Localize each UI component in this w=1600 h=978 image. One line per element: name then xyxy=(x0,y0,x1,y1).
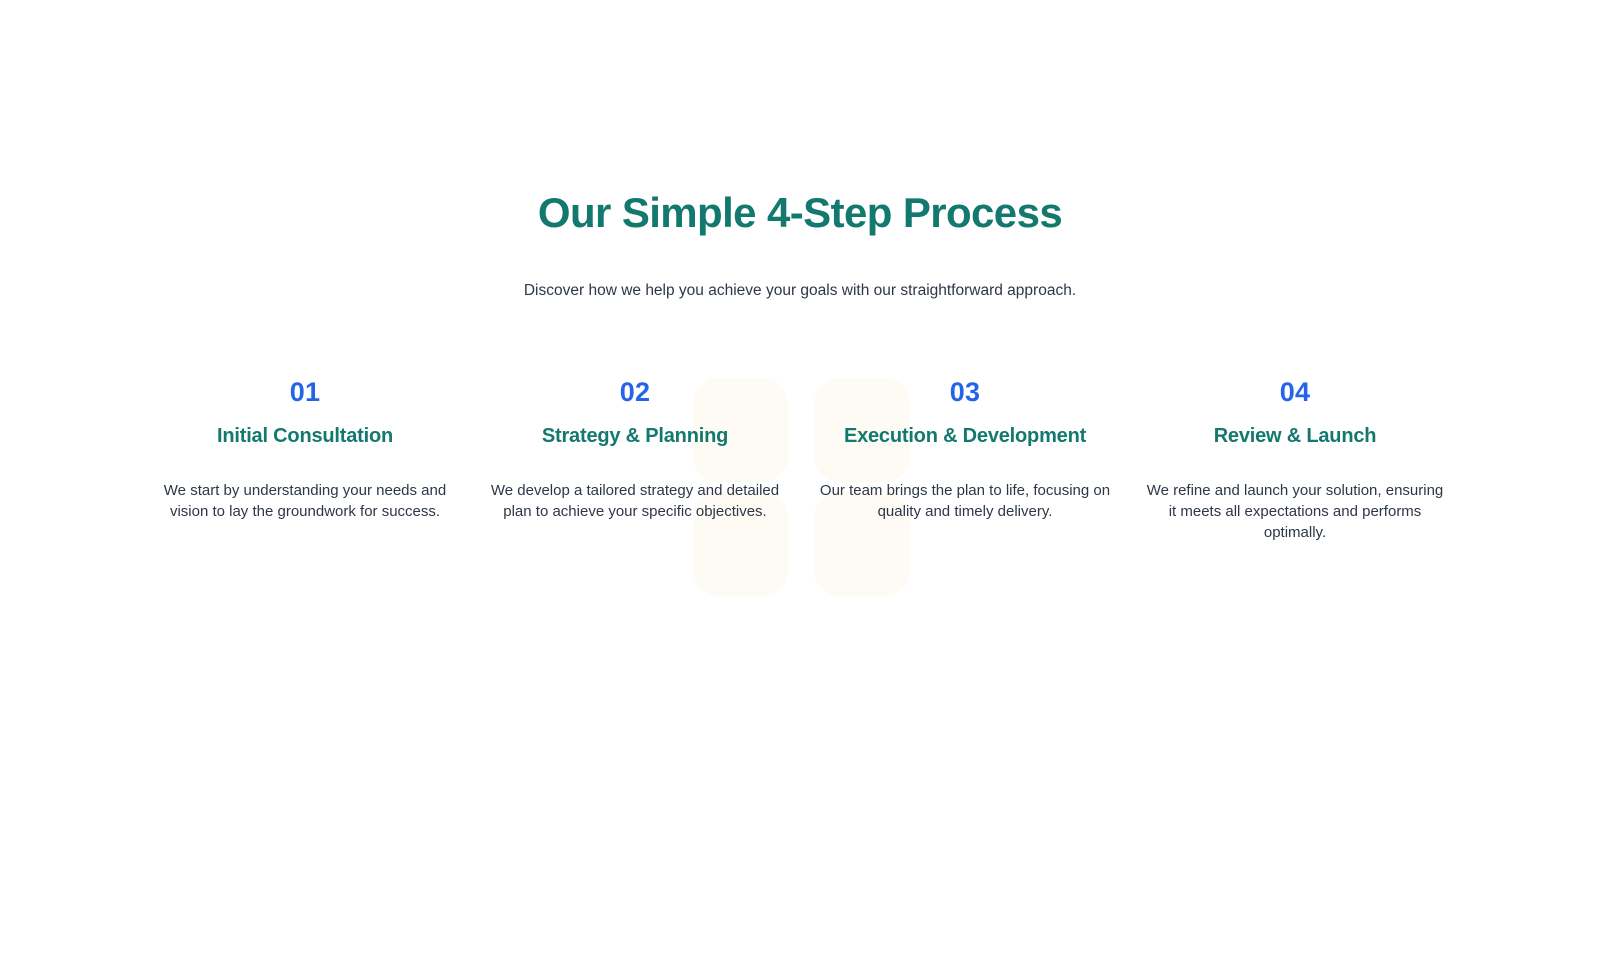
step-title-02: Strategy & Planning xyxy=(482,424,788,448)
process-steps-list: 01 Initial Consultation We start by unde… xyxy=(0,378,1600,544)
page-title: Our Simple 4-Step Process xyxy=(0,192,1600,234)
section-subtitle: Discover how we help you achieve your go… xyxy=(0,280,1600,302)
step-description-02: We develop a tailored strategy and detai… xyxy=(482,480,788,522)
step-number-04: 04 xyxy=(1142,378,1448,408)
process-step-02: 02 Strategy & Planning We develop a tail… xyxy=(470,378,800,523)
process-section-page: Our Simple 4-Step Process Discover how w… xyxy=(0,0,1600,978)
step-description-03: Our team brings the plan to life, focusi… xyxy=(812,480,1118,522)
process-step-03: 03 Execution & Development Our team brin… xyxy=(800,378,1130,523)
step-number-01: 01 xyxy=(152,378,458,408)
step-number-03: 03 xyxy=(812,378,1118,408)
step-title-04: Review & Launch xyxy=(1142,424,1448,448)
process-step-01: 01 Initial Consultation We start by unde… xyxy=(140,378,470,523)
step-title-01: Initial Consultation xyxy=(152,424,458,448)
step-description-01: We start by understanding your needs and… xyxy=(152,480,458,522)
step-number-02: 02 xyxy=(482,378,788,408)
step-description-04: We refine and launch your solution, ensu… xyxy=(1142,480,1448,543)
process-step-04: 04 Review & Launch We refine and launch … xyxy=(1130,378,1460,544)
section-header: Our Simple 4-Step Process Discover how w… xyxy=(0,0,1600,302)
step-title-03: Execution & Development xyxy=(812,424,1118,448)
